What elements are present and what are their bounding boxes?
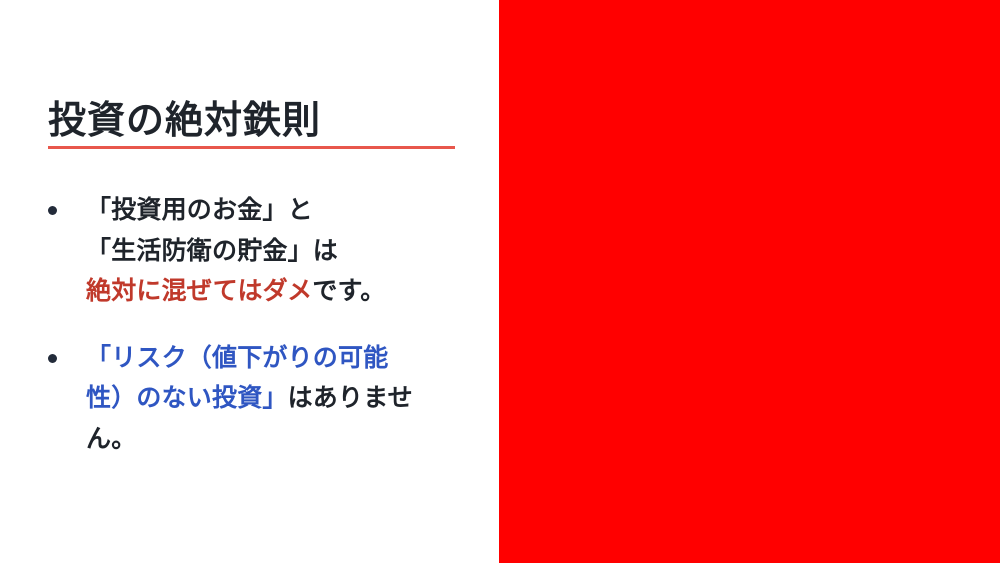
bullet-1-line-2: 「生活防衛の貯金」は [86,237,338,265]
bullet-1-text: 「投資用のお金」と 「生活防衛の貯金」は 絶対に混ぜてはダメです。 [86,190,385,312]
accent-red-panel: ndi teotius 0 5 0 5 2002 2003 2004 2005 … [499,0,1000,563]
bullet-2-emphasis-blue-2: 性）のない投資」 [86,384,288,412]
slide-root: ndi teotius 0 5 0 5 2002 2003 2004 2005 … [0,0,1000,563]
bullet-1-emphasis-red: 絶対に混ぜてはダメ [86,277,312,305]
page-title: 投資の絶対鉄則 [48,101,321,143]
list-item: 「投資用のお金」と 「生活防衛の貯金」は 絶対に混ぜてはダメです。 [48,190,478,312]
bullet-dot-icon [48,206,57,215]
bullet-1-line-1: 「投資用のお金」と [86,196,313,224]
bullet-2-line-3: ん。 [86,425,136,453]
list-item: 「リスク（値下がりの可能 性）のない投資」はありませ ん。 [48,338,478,460]
bullet-2-emphasis-blue-1: 「リスク（値下がりの可能 [86,344,388,372]
title-underline-rule [48,146,455,149]
bullet-2-line-2-tail: はありませ [288,384,413,412]
bullet-list: 「投資用のお金」と 「生活防衛の貯金」は 絶対に混ぜてはダメです。 「リスク（値… [48,190,478,459]
bullet-dot-icon [48,354,57,363]
bullet-1-line-3-tail: です。 [312,277,385,305]
bullet-2-text: 「リスク（値下がりの可能 性）のない投資」はありませ ん。 [86,338,413,460]
